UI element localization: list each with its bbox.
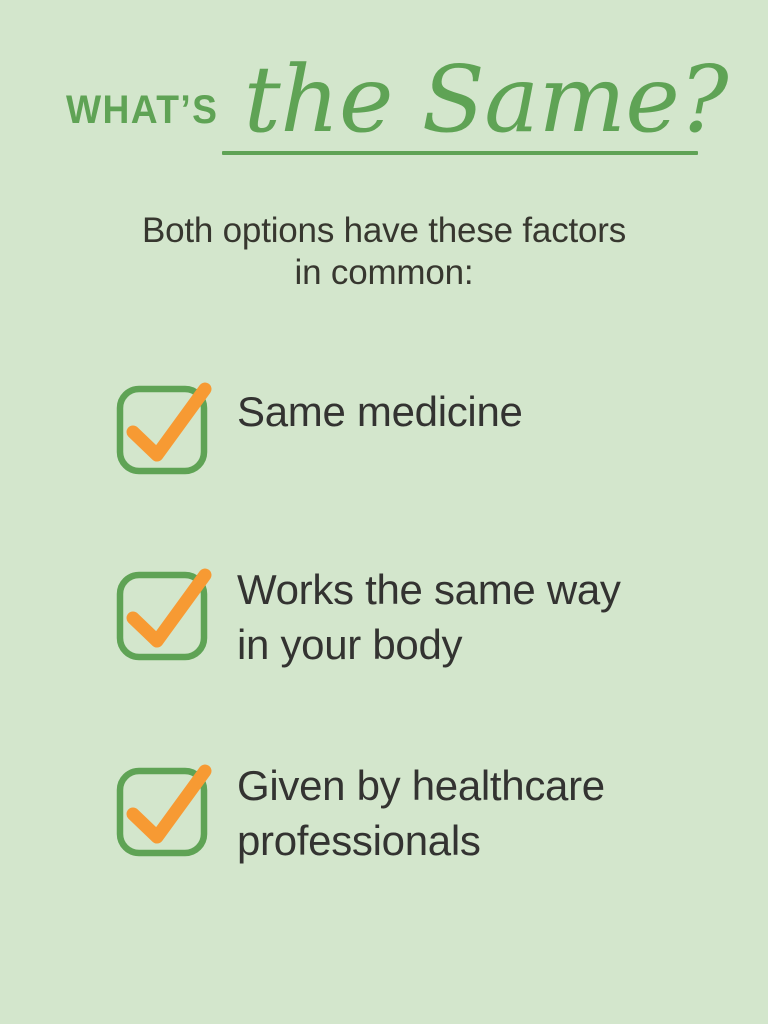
- checkbox-checked-icon: [112, 370, 212, 470]
- subtitle-line-2: in common:: [0, 252, 768, 294]
- title-script: the Same?: [244, 54, 728, 146]
- poster-canvas: WHAT’S the Same? Both options have these…: [0, 0, 768, 1024]
- subtitle-line-1: Both options have these factors: [0, 210, 768, 252]
- checklist-item-label: Same medicine: [237, 370, 523, 439]
- checklist-item-label: Given by healthcare professionals: [237, 752, 605, 868]
- checklist-item: Works the same way in your body: [0, 556, 768, 676]
- checklist-item-label: Works the same way in your body: [237, 556, 621, 672]
- title-row: WHAT’S the Same?: [66, 48, 706, 156]
- checkbox-checked-icon: [112, 752, 212, 852]
- checkbox-checked-icon: [112, 556, 212, 656]
- title-block: WHAT’S the Same?: [0, 48, 768, 168]
- title-prefix: WHAT’S: [66, 90, 218, 130]
- checklist-item: Given by healthcare professionals: [0, 752, 768, 872]
- title-underline-rule: [222, 151, 698, 155]
- subtitle: Both options have these factors in commo…: [0, 210, 768, 294]
- checklist-item: Same medicine: [0, 370, 768, 490]
